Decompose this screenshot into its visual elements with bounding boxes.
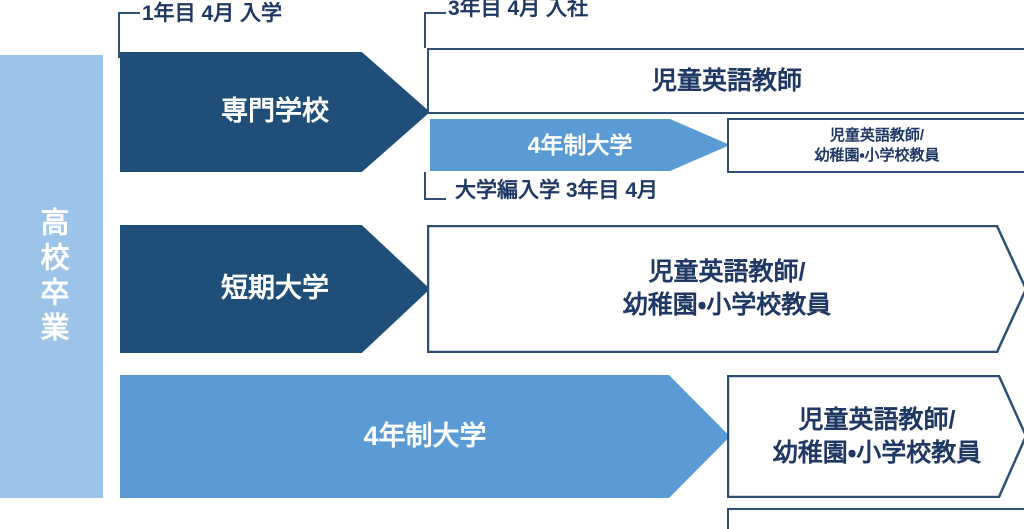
outcome-transfer-job[interactable]: 児童英語教師/ 幼稚園・小学校教員 <box>727 118 1024 173</box>
node-senmon-gakko[interactable]: 専門学校 <box>120 52 430 172</box>
node-yonensei-daigaku-label: 4年制大学 <box>363 420 486 454</box>
node-yonensei-daigaku[interactable]: 4年制大学 <box>120 375 730 498</box>
node-university-transfer-label: 4年制大学 <box>528 131 633 160</box>
node-senmon-gakko-label: 専門学校 <box>221 95 329 129</box>
outcome-tanki-job-label: 児童英語教師/ 幼稚園・小学校教員 <box>427 225 1024 353</box>
outcome-transfer-job-label: 児童英語教師/ 幼稚園・小学校教員 <box>814 126 939 165</box>
node-tanki-daigaku[interactable]: 短期大学 <box>120 225 430 353</box>
annotation-employment: 3年目 4月 入社 <box>448 0 588 19</box>
pathway-diagram: 高校卒業 1年目 4月 入学 3年目 4月 入社 大学編入学 3年目 4月 専門… <box>0 0 1024 529</box>
annotation-enrollment: 1年目 4月 入学 <box>142 3 282 24</box>
outcome-daigaku-job[interactable]: 児童英語教師/ 幼稚園・小学校教員 <box>727 375 1024 498</box>
start-node-label: 高校卒業 <box>37 207 66 347</box>
start-node-high-school-graduation: 高校卒業 <box>0 55 103 498</box>
outcome-tanki-job[interactable]: 児童英語教師/ 幼稚園・小学校教員 <box>427 225 1024 353</box>
node-university-transfer[interactable]: 4年制大学 <box>430 119 730 171</box>
node-tanki-daigaku-label: 短期大学 <box>221 272 329 306</box>
outcome-daigaku-job-label: 児童英語教師/ 幼稚園・小学校教員 <box>727 375 1024 498</box>
outcome-senmon-job[interactable]: 児童英語教師 <box>427 48 1024 114</box>
outcome-senmon-job-label: 児童英語教師 <box>652 65 802 98</box>
outcome-next-partial[interactable] <box>727 508 1024 529</box>
annotation-transfer: 大学編入学 3年目 4月 <box>455 180 658 201</box>
